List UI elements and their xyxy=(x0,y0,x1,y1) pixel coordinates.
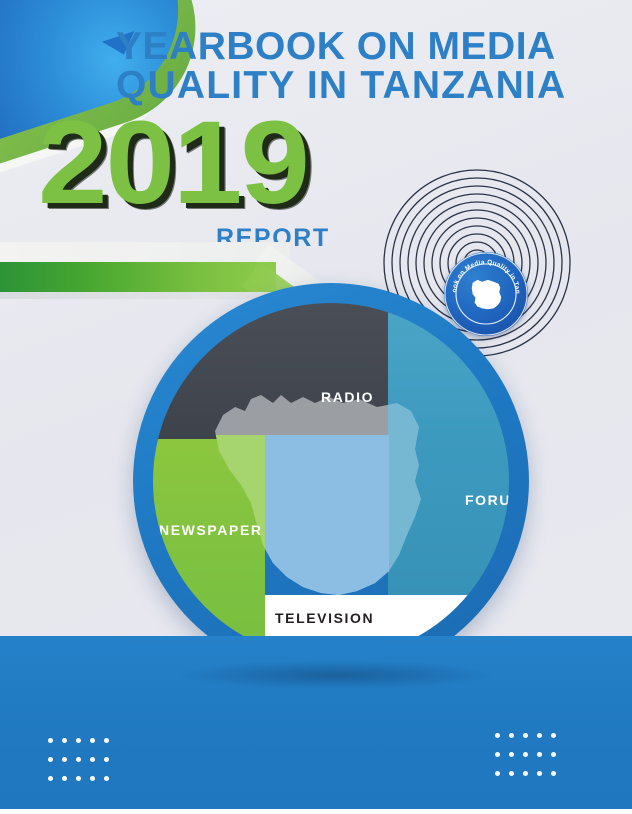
chart-label-radio: RADIO xyxy=(321,389,374,405)
report-cover-page: YEARBOOK ON MEDIA QUALITY IN TANZANIA 20… xyxy=(0,0,632,814)
chart-clip: RADIO FORUM TELEVISION NEWSPAPER xyxy=(153,303,509,659)
page-bottom-edge xyxy=(0,809,632,814)
circle-drop-shadow xyxy=(176,660,496,690)
chart-label-forum: FORUM xyxy=(465,492,509,508)
title-line-1: YEARBOOK ON MEDIA xyxy=(116,25,556,68)
chart-label-television: TELEVISION xyxy=(275,610,374,626)
chart-label-newspaper: NEWSPAPER xyxy=(159,522,263,538)
media-sector-circle-chart: RADIO FORUM TELEVISION NEWSPAPER xyxy=(133,283,529,679)
page-title: YEARBOOK ON MEDIA QUALITY IN TANZANIA xyxy=(116,28,624,105)
band-white-segment xyxy=(0,242,290,264)
dot-grid-left xyxy=(48,738,118,795)
dot-grid-right xyxy=(495,733,565,790)
year-heading: 2019 xyxy=(38,104,308,222)
